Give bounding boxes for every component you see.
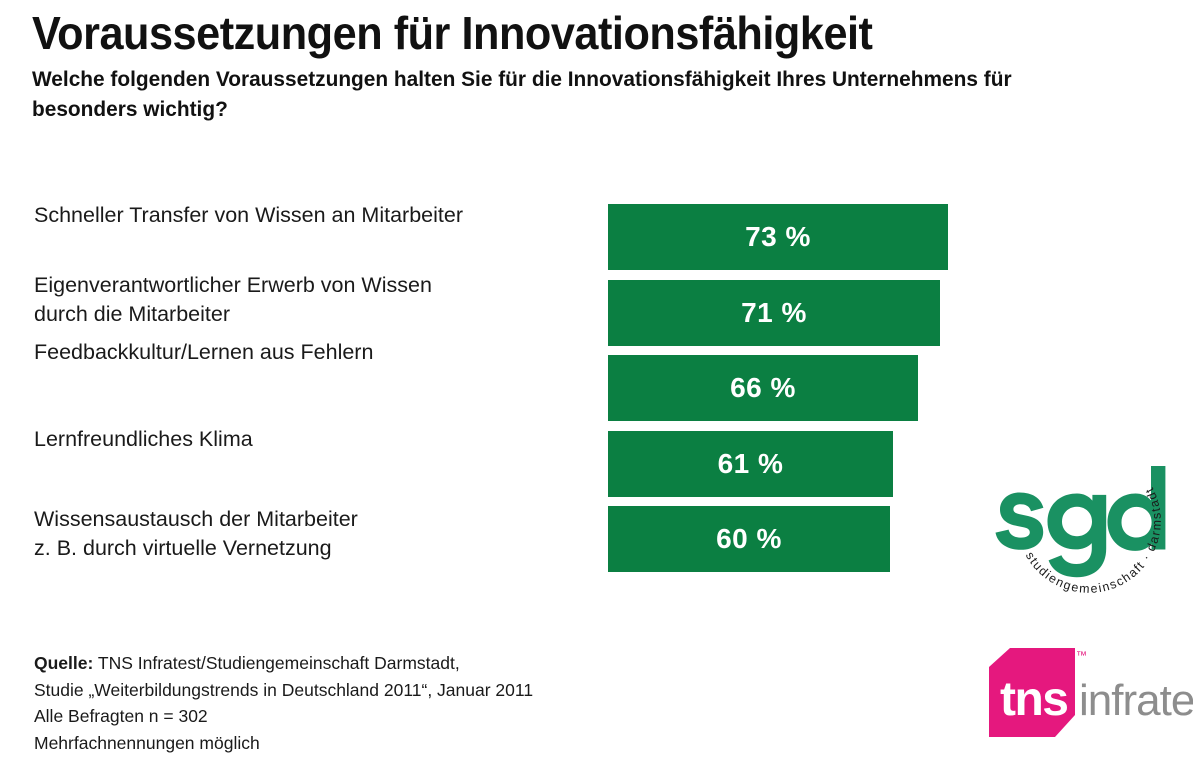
bar-segment: 66 % (608, 355, 918, 421)
header: Voraussetzungen für Innovationsfähigkeit… (32, 10, 1162, 124)
bar-segment: 71 % (608, 280, 940, 346)
page-subtitle: Welche folgenden Voraussetzungen halten … (32, 65, 1109, 124)
infographic-root: Voraussetzungen für Innovationsfähigkeit… (0, 0, 1200, 771)
bar-value-label: 66 % (730, 374, 796, 402)
bar-segment: 73 % (608, 204, 948, 270)
bar-label: Feedbackkultur/Lernen aus Fehlern (34, 338, 594, 367)
bar-label: Eigenverantwortlicher Erwerb von Wissen … (34, 271, 594, 329)
source-label: Quelle: (34, 653, 93, 673)
tns-infratest-logo: tns ™ infratest (963, 645, 1193, 755)
sgd-logo-graphic: studiengemeinschaft · darmstadt (988, 432, 1188, 597)
bar-segment: 61 % (608, 431, 893, 497)
tns-mark-text: tns (1000, 673, 1068, 726)
source-line-2: Studie „Weiterbildungstrends in Deutschl… (34, 677, 533, 704)
bar-value-label: 61 % (718, 450, 784, 478)
bar-value-label: 60 % (716, 525, 782, 553)
tns-logo-graphic: tns ™ infratest (963, 645, 1193, 755)
bar-value-label: 73 % (745, 223, 811, 251)
page-title: Voraussetzungen für Innovationsfähigkeit (32, 10, 1094, 57)
sgd-logo: studiengemeinschaft · darmstadt (988, 432, 1188, 597)
bar-segment: 60 % (608, 506, 890, 572)
trademark-icon: ™ (1076, 650, 1087, 662)
source-line-3: Alle Befragten n = 302 (34, 703, 533, 730)
bar-label: Wissensaustausch der Mitarbeiter z. B. d… (34, 505, 594, 563)
source-block: Quelle: TNS Infratest/Studiengemeinschaf… (34, 650, 533, 756)
chart-row: Feedbackkultur/Lernen aus Fehlern 66 % (0, 347, 1200, 425)
bar-label: Schneller Transfer von Wissen an Mitarbe… (34, 201, 594, 230)
tns-wordmark-text: infratest (1079, 676, 1193, 725)
bar-label: Lernfreundliches Klima (34, 425, 594, 454)
chart-row: Schneller Transfer von Wissen an Mitarbe… (0, 196, 1200, 274)
source-text: TNS Infratest/Studiengemeinschaft Darmst… (93, 653, 459, 673)
source-line-4: Mehrfachnennungen möglich (34, 730, 533, 757)
source-line-1: Quelle: TNS Infratest/Studiengemeinschaf… (34, 650, 533, 677)
bar-value-label: 71 % (741, 299, 807, 327)
